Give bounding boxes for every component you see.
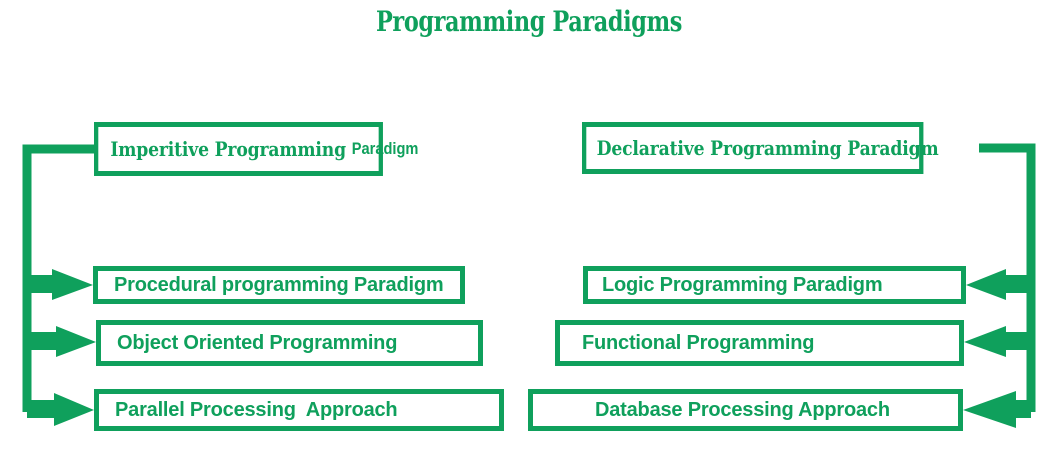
arrowhead-database <box>963 391 1016 428</box>
arrowhead-oop <box>56 326 96 357</box>
node-label: Imperitive Programming <box>110 137 351 161</box>
diagram-canvas: Programming Paradigms Imperitive Program… <box>0 0 1058 451</box>
node-label: Declarative Programming Paradigm <box>597 136 939 160</box>
node-procedural-programming-paradigm[interactable]: Procedural programming Paradigm <box>93 266 465 304</box>
node-imperative-programming-paradigm[interactable]: Imperitive Programming Paradigm <box>94 122 383 176</box>
node-logic-programming-paradigm[interactable]: Logic Programming Paradigm <box>583 266 966 304</box>
node-label: Parallel Processing Approach <box>115 399 397 422</box>
node-declarative-programming-paradigm[interactable]: Declarative Programming Paradigm <box>582 122 923 174</box>
arrowhead-functional <box>964 326 1006 357</box>
node-parallel-processing-approach[interactable]: Parallel Processing Approach <box>94 389 504 431</box>
node-label: Object Oriented Programming <box>117 332 397 355</box>
node-label: Database Processing Approach <box>595 399 890 422</box>
arrowhead-parallel <box>54 393 94 426</box>
node-label-sub: Paradigm <box>352 139 419 159</box>
node-label: Procedural programming Paradigm <box>114 274 443 297</box>
connector-layer <box>0 0 1058 451</box>
node-object-oriented-programming[interactable]: Object Oriented Programming <box>96 320 483 366</box>
node-database-processing-approach[interactable]: Database Processing Approach <box>528 389 963 431</box>
node-label: Functional Programming <box>582 332 814 355</box>
arrowhead-procedural <box>52 269 93 300</box>
node-functional-programming[interactable]: Functional Programming <box>555 320 964 366</box>
node-label: Logic Programming Paradigm <box>602 274 882 297</box>
arrowhead-logic <box>966 269 1006 300</box>
